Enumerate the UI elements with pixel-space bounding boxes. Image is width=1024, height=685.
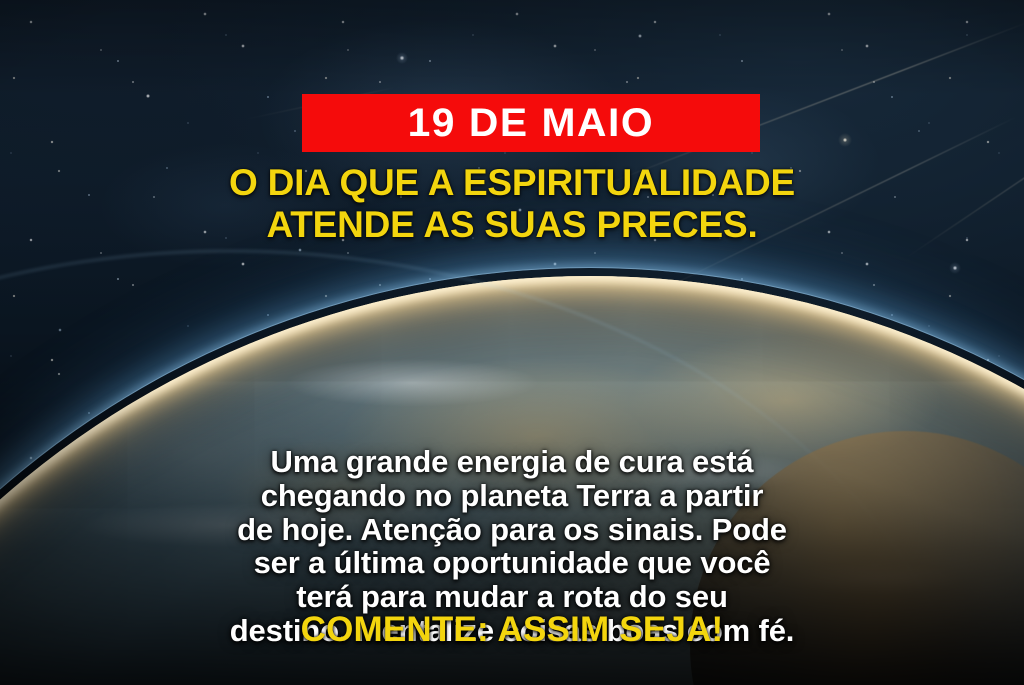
date-banner-label: 19 DE MAIO [408, 103, 655, 143]
headline-line-2: ATENDE AS SUAS PRECES. [0, 204, 1024, 246]
body-line-2: chegando no planeta Terra a partir [0, 479, 1024, 513]
date-banner: 19 DE MAIO [302, 94, 760, 152]
body-line-4: ser a última oportunidade que você [0, 546, 1024, 580]
call-to-action-text: COMENTE: ASSIM SEJA! [0, 612, 1024, 647]
body-line-3: de hoje. Atenção para os sinais. Pode [0, 513, 1024, 547]
body-line-5: terá para mudar a rota do seu [0, 580, 1024, 614]
poster-canvas: 19 DE MAIO O DIA QUE A ESPIRITUALIDADE A… [0, 0, 1024, 685]
body-line-1: Uma grande energia de cura está [0, 445, 1024, 479]
headline: O DIA QUE A ESPIRITUALIDADE ATENDE AS SU… [0, 162, 1024, 246]
headline-line-1: O DIA QUE A ESPIRITUALIDADE [0, 162, 1024, 204]
poster-content: 19 DE MAIO O DIA QUE A ESPIRITUALIDADE A… [0, 0, 1024, 685]
